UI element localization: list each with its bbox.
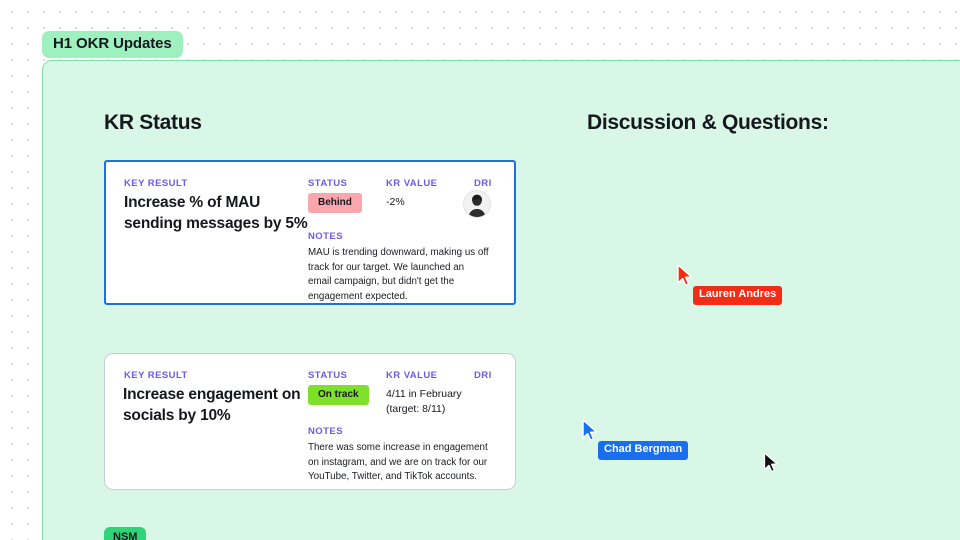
section-title-pill[interactable]: H1 OKR Updates — [42, 31, 183, 58]
kr-value: 4/11 in February (target: 8/11) — [386, 387, 462, 417]
discussion-questions-heading: Discussion & Questions: — [587, 111, 829, 135]
kr-card[interactable]: KEY RESULT Increase engagement on social… — [104, 353, 516, 490]
status-badge[interactable]: On track — [308, 385, 369, 405]
label-dri: DRI — [474, 178, 492, 189]
label-notes: NOTES — [308, 426, 343, 437]
label-key-result: KEY RESULT — [124, 178, 188, 189]
kr-title: Increase % of MAU sending messages by 5% — [124, 193, 314, 235]
collaborator-name-tag: Lauren Andres — [693, 286, 782, 305]
pointer-cursor-icon — [676, 264, 694, 288]
label-dri: DRI — [474, 370, 492, 381]
kr-status-heading: KR Status — [104, 111, 202, 135]
kr-card-selected[interactable]: KEY RESULT Increase % of MAU sending mes… — [104, 160, 516, 305]
pointer-cursor-icon — [581, 419, 599, 443]
label-status: STATUS — [308, 370, 347, 381]
arrow-cursor-icon — [763, 452, 780, 475]
label-status: STATUS — [308, 178, 347, 189]
collaborator-name-tag: Chad Bergman — [598, 441, 688, 460]
kr-title: Increase engagement on socials by 10% — [123, 385, 313, 427]
label-key-result: KEY RESULT — [124, 370, 188, 381]
clipped-section-pill[interactable]: NSM — [104, 527, 146, 540]
notes-body: There was some increase in engagement on… — [308, 441, 490, 485]
dri-avatar[interactable] — [464, 191, 490, 217]
label-kr-value: KR VALUE — [386, 178, 437, 189]
status-badge[interactable]: Behind — [308, 193, 362, 213]
board-canvas: H1 OKR Updates KR Status Discussion & Qu… — [0, 0, 960, 540]
label-notes: NOTES — [308, 231, 343, 242]
kr-value: -2% — [386, 195, 405, 210]
label-kr-value: KR VALUE — [386, 370, 437, 381]
person-avatar-icon — [464, 191, 490, 217]
notes-body: MAU is trending downward, making us off … — [308, 246, 490, 305]
